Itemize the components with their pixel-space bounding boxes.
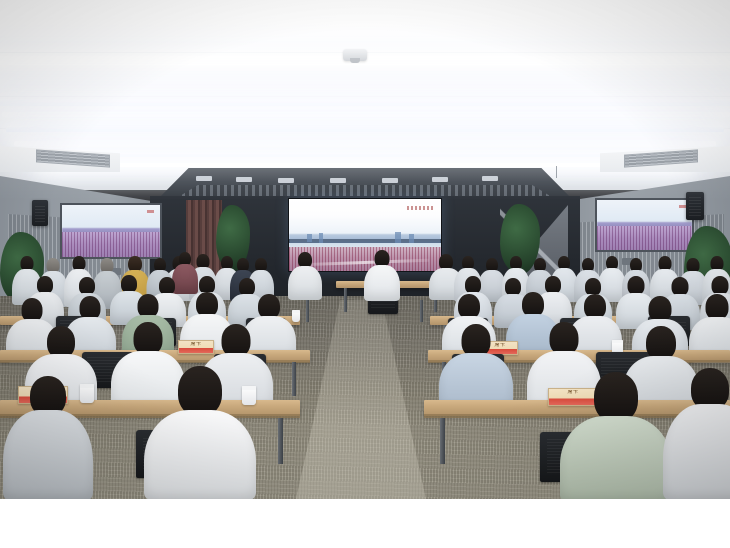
ceiling-light-strip — [6, 126, 724, 132]
attendee-near-far-right — [660, 368, 730, 499]
ceiling-light-strip — [14, 141, 716, 146]
screen-watermark-icon — [407, 206, 433, 210]
torso — [663, 404, 730, 499]
ceiling-light-strip — [40, 163, 690, 167]
monitor-watermark-icon — [147, 210, 154, 213]
ceiling-drop-wire — [556, 166, 557, 178]
soffit-spot — [482, 176, 498, 181]
screen-building — [307, 234, 312, 242]
bottom-white-margin — [0, 499, 730, 548]
attendee-front-center — [358, 250, 406, 300]
torso — [560, 416, 672, 499]
head — [178, 366, 222, 416]
desk-leg — [278, 418, 283, 464]
ceiling-light-strip — [0, 99, 730, 106]
ceiling-projector-icon — [343, 49, 367, 61]
cart-leg — [420, 300, 423, 322]
right-wall-monitor[interactable] — [595, 198, 694, 252]
soffit-spot — [330, 178, 346, 183]
wall-speaker — [32, 200, 48, 226]
soffit-spot — [278, 178, 294, 183]
desk-leg — [440, 418, 445, 464]
desk-leg — [292, 362, 296, 396]
monitor-cityscape — [62, 232, 160, 257]
attendee-near-right — [556, 372, 676, 499]
attendee-near-far-left — [0, 376, 96, 499]
monitor-cityscape — [597, 226, 692, 250]
torso — [144, 410, 256, 499]
monitor-watermark-icon — [679, 205, 686, 208]
attendee-front-left — [283, 252, 327, 300]
left-wall-monitor[interactable] — [60, 203, 162, 259]
attendee-near-left — [140, 366, 260, 499]
wall-speaker — [686, 192, 704, 220]
soffit-spot — [382, 178, 398, 183]
torso — [3, 410, 93, 499]
soffit-spot — [236, 177, 252, 182]
screen-building — [395, 232, 401, 243]
screen-building — [319, 233, 323, 243]
photo-canvas: 席卡 席卡 — [0, 0, 730, 548]
head — [594, 372, 638, 422]
screen-building — [409, 234, 414, 243]
conference-room-photo: 席卡 席卡 — [0, 0, 730, 499]
head — [646, 326, 676, 360]
desk-leg — [344, 288, 347, 312]
torso — [364, 265, 400, 301]
attendee — [436, 324, 516, 410]
ceiling-light-strip — [2, 112, 730, 117]
soffit-spot — [196, 176, 212, 181]
cart-leg — [306, 300, 309, 322]
soffit-spot — [432, 177, 448, 182]
